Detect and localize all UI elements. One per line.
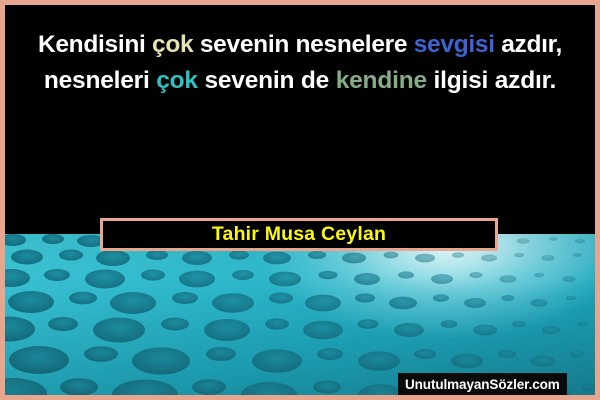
quote-word: sevenin de — [198, 67, 336, 94]
quote-word-highlight-cok-1: çok — [152, 31, 193, 58]
quote-word: Kendisini — [38, 31, 152, 58]
quote-line-2: nesneleri çok sevenin de kendine ilgisi … — [5, 63, 595, 99]
watermark-label: UnutulmayanSözler.com — [405, 377, 560, 392]
author-name: Tahir Musa Ceylan — [212, 223, 386, 246]
quote-word-highlight-kendine: kendine — [336, 67, 427, 94]
author-plaque: Tahir Musa Ceylan — [100, 218, 498, 251]
background-photo — [5, 234, 595, 395]
quote-panel: Kendisini çok sevenin nesnelere sevgisi … — [5, 5, 595, 234]
quote-word: nesneleri — [44, 67, 156, 94]
quote-word: sevenin nesnelere — [193, 31, 413, 58]
quote-card: Kendisini çok sevenin nesnelere sevgisi … — [0, 0, 600, 400]
polka-dot-pattern — [5, 234, 595, 395]
quote-word: azdır, — [495, 31, 562, 58]
quote-word: ilgisi azdır. — [427, 67, 556, 94]
quote-line-1: Kendisini çok sevenin nesnelere sevgisi … — [5, 27, 595, 63]
watermark: UnutulmayanSözler.com — [398, 373, 567, 395]
quote-word-highlight-sevgisi: sevgisi — [414, 31, 495, 58]
quote-text: Kendisini çok sevenin nesnelere sevgisi … — [5, 27, 595, 99]
quote-word-highlight-cok-2: çok — [156, 67, 198, 94]
